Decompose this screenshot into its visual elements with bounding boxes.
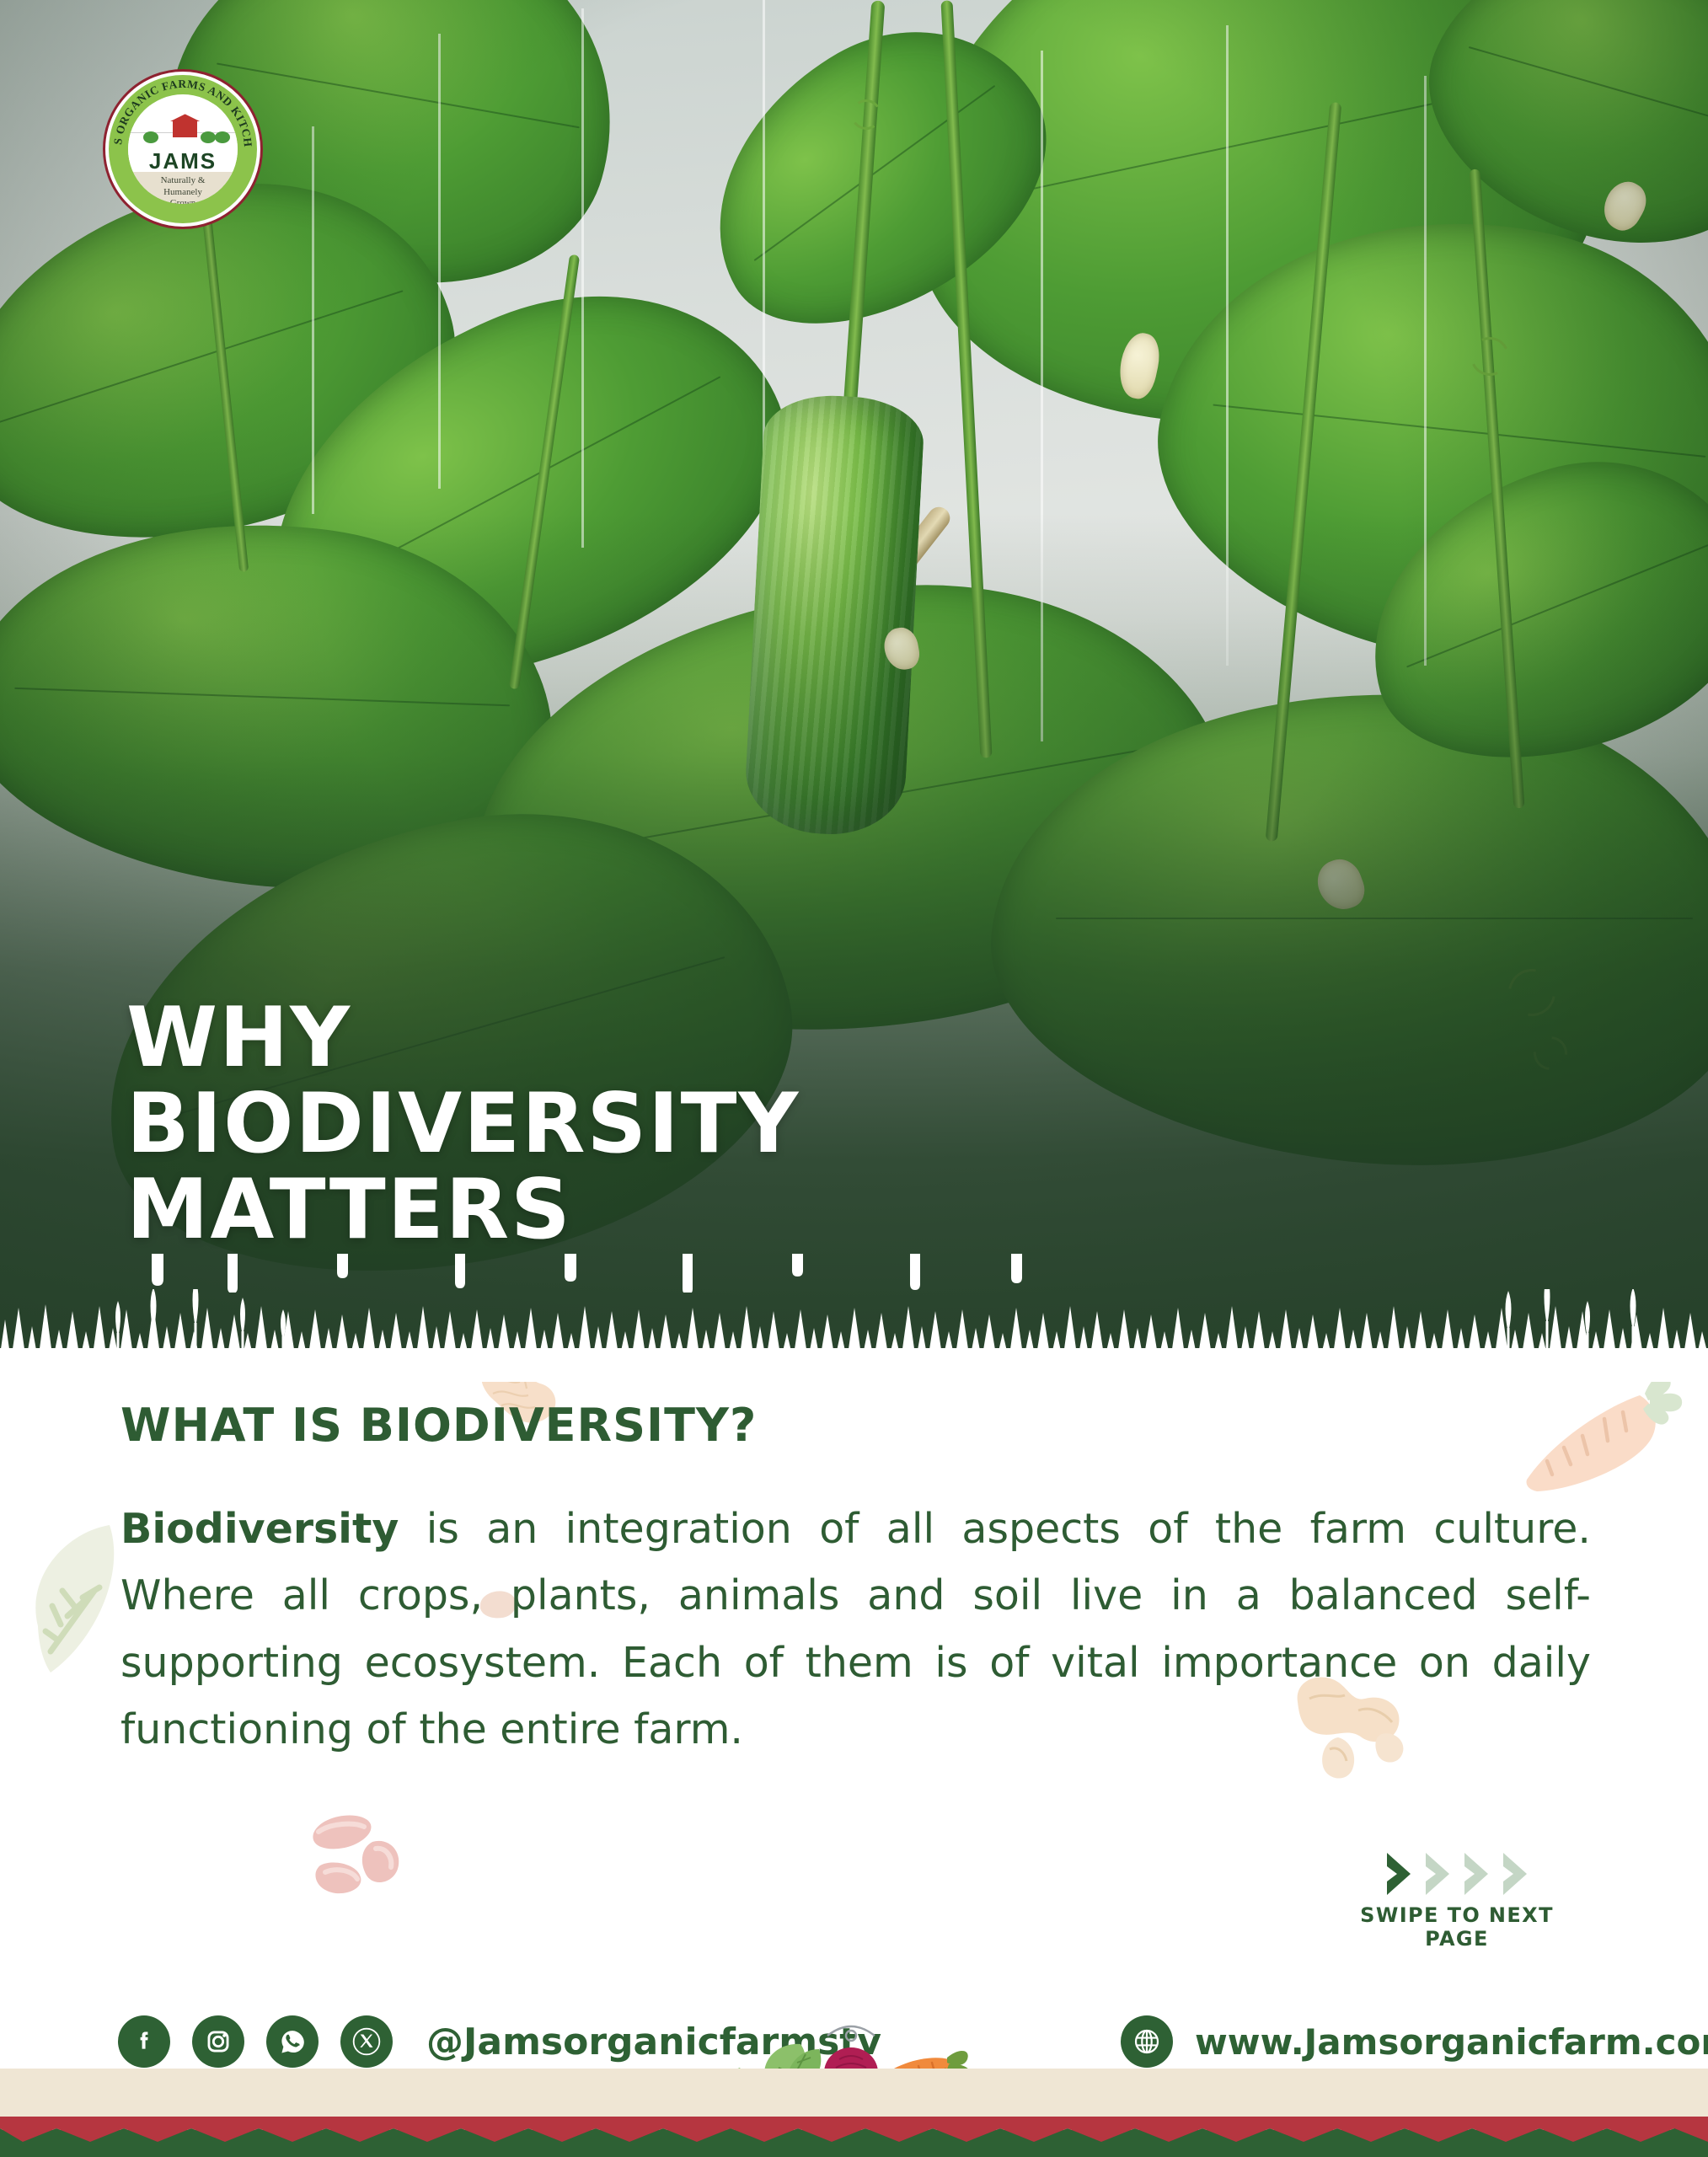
instagram-icon[interactable]	[192, 2015, 244, 2068]
chevron-right-icon	[1421, 1851, 1454, 1897]
logo-farm-scene	[128, 105, 238, 152]
logo-tagline: Naturally & Humanely Grown	[128, 175, 238, 204]
body-paragraph: Biodiversity is an integration of all as…	[120, 1496, 1591, 1764]
logo-brand-name: JAMS	[149, 148, 217, 174]
content-section: WHAT IS BIODIVERSITY? Biodiversity is an…	[0, 1365, 1708, 2022]
logo-name-band: JAMS	[128, 152, 238, 173]
facebook-icon[interactable]	[118, 2015, 170, 2068]
website-url[interactable]: www.Jamsorganicfarm.com	[1195, 2021, 1708, 2063]
poster-title: WHY BIODIVERSITY MATTERS	[126, 996, 1053, 1254]
bean-watermark-icon	[278, 1795, 430, 1913]
website-link[interactable]: www.Jamsorganicfarm.com	[1121, 2015, 1708, 2068]
chevron-group	[1331, 1849, 1583, 1898]
chevron-right-icon	[1498, 1851, 1532, 1897]
chevron-right-icon	[1382, 1851, 1416, 1897]
logo-inner-disc: JAMS Naturally & Humanely Grown	[128, 94, 238, 204]
whatsapp-icon[interactable]	[266, 2015, 319, 2068]
swipe-to-next-page[interactable]: SWIPE TO NEXT PAGE	[1331, 1849, 1583, 1951]
section-heading: WHAT IS BIODIVERSITY?	[120, 1399, 757, 1452]
chevron-right-icon	[1459, 1851, 1493, 1897]
title-line-3: MATTERS	[126, 1168, 1053, 1254]
logo-tagline-line-3: Grown	[128, 198, 238, 204]
bottom-cream-strip	[0, 2069, 1708, 2117]
swipe-label: SWIPE TO NEXT PAGE	[1331, 1903, 1583, 1951]
grass-divider	[0, 1289, 1708, 1382]
logo-tree-left	[143, 131, 158, 143]
brand-logo-badge[interactable]: JAMS ORGANIC FARMS AND KITCHENS EST. 202…	[103, 69, 263, 229]
logo-tree-right	[201, 131, 216, 143]
x-twitter-icon[interactable]	[340, 2015, 393, 2068]
logo-tree-far-right	[215, 131, 230, 143]
title-line-2: BIODIVERSITY	[126, 1082, 1053, 1168]
poster-canvas: JAMS ORGANIC FARMS AND KITCHENS EST. 202…	[0, 0, 1708, 2157]
logo-barn-icon	[173, 121, 197, 138]
logo-tagline-line-2: Humanely	[128, 187, 238, 198]
title-line-1: WHY	[126, 996, 1053, 1082]
hero-photo-area: JAMS ORGANIC FARMS AND KITCHENS EST. 202…	[0, 0, 1708, 1348]
globe-icon[interactable]	[1121, 2015, 1173, 2068]
body-lead-word: Biodiversity	[120, 1505, 399, 1553]
bottom-red-zigzag-strip	[0, 2117, 1708, 2142]
logo-tagline-line-1: Naturally &	[128, 175, 238, 186]
